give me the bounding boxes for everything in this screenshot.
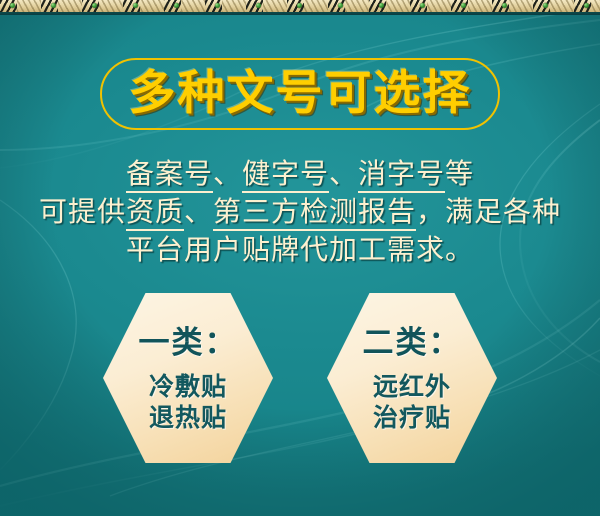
category-hexagon-2-content: 二类： 远红外 治疗贴 (327, 293, 497, 463)
page-title: 多种文号可选择 (0, 62, 600, 126)
border-gem-icon (338, 3, 343, 8)
border-gem-icon (174, 3, 179, 8)
description-block: 备案号、健字号、消字号等 可提供资质、第三方检测报告，满足各种 平台用户贴牌代加… (0, 155, 600, 269)
category-1-heading: 一类： (139, 323, 238, 363)
border-gem-icon (256, 3, 261, 8)
border-gem-icon (502, 3, 507, 8)
description-segment: 、 (329, 157, 358, 190)
poster-canvas: 多种文号可选择 备案号、健字号、消字号等 可提供资质、第三方检测报告，满足各种 … (0, 0, 600, 516)
description-segment: 备案号 (126, 157, 213, 193)
category-hexagon-2[interactable]: 二类： 远红外 治疗贴 (327, 293, 497, 463)
description-segment: 资质 (126, 195, 184, 231)
border-gem-row (0, 0, 600, 12)
border-gem-icon (92, 3, 97, 8)
border-gem-icon (297, 3, 302, 8)
description-line-2: 可提供资质、第三方检测报告，满足各种 (0, 193, 600, 231)
description-segment: 等 (445, 157, 474, 190)
border-gem-icon (10, 3, 15, 8)
category-2-item-2: 治疗贴 (373, 402, 451, 433)
description-segment: 第三方检测报告 (213, 195, 416, 231)
description-line-3: 平台用户贴牌代加工需求。 (0, 231, 600, 269)
description-segment: 、 (213, 157, 242, 190)
category-2-item-1: 远红外 (373, 371, 451, 402)
border-gem-icon (543, 3, 548, 8)
category-hexagon-1-content: 一类： 冷敷贴 退热贴 (103, 293, 273, 463)
description-segment: 健字号 (242, 157, 329, 193)
description-segment: 可提供 (39, 195, 126, 228)
border-gem-icon (584, 3, 589, 8)
description-line-1: 备案号、健字号、消字号等 (0, 155, 600, 193)
description-segment: 平台用户贴牌代加工需求。 (126, 233, 474, 266)
description-segment: 消字号 (358, 157, 445, 193)
category-2-heading: 二类： (363, 323, 462, 363)
description-segment: ，满足各种 (416, 195, 561, 228)
border-gem-icon (379, 3, 384, 8)
description-segment: 、 (184, 195, 213, 228)
category-1-item-2: 退热贴 (149, 402, 227, 433)
border-gem-icon (420, 3, 425, 8)
border-gem-icon (51, 3, 56, 8)
border-gem-icon (215, 3, 220, 8)
category-1-item-1: 冷敷贴 (149, 371, 227, 402)
border-underline-bar (0, 12, 600, 15)
category-hexagon-1[interactable]: 一类： 冷敷贴 退热贴 (103, 293, 273, 463)
chinese-chevron-border (0, 0, 600, 15)
border-gem-icon (461, 3, 466, 8)
border-gem-icon (133, 3, 138, 8)
